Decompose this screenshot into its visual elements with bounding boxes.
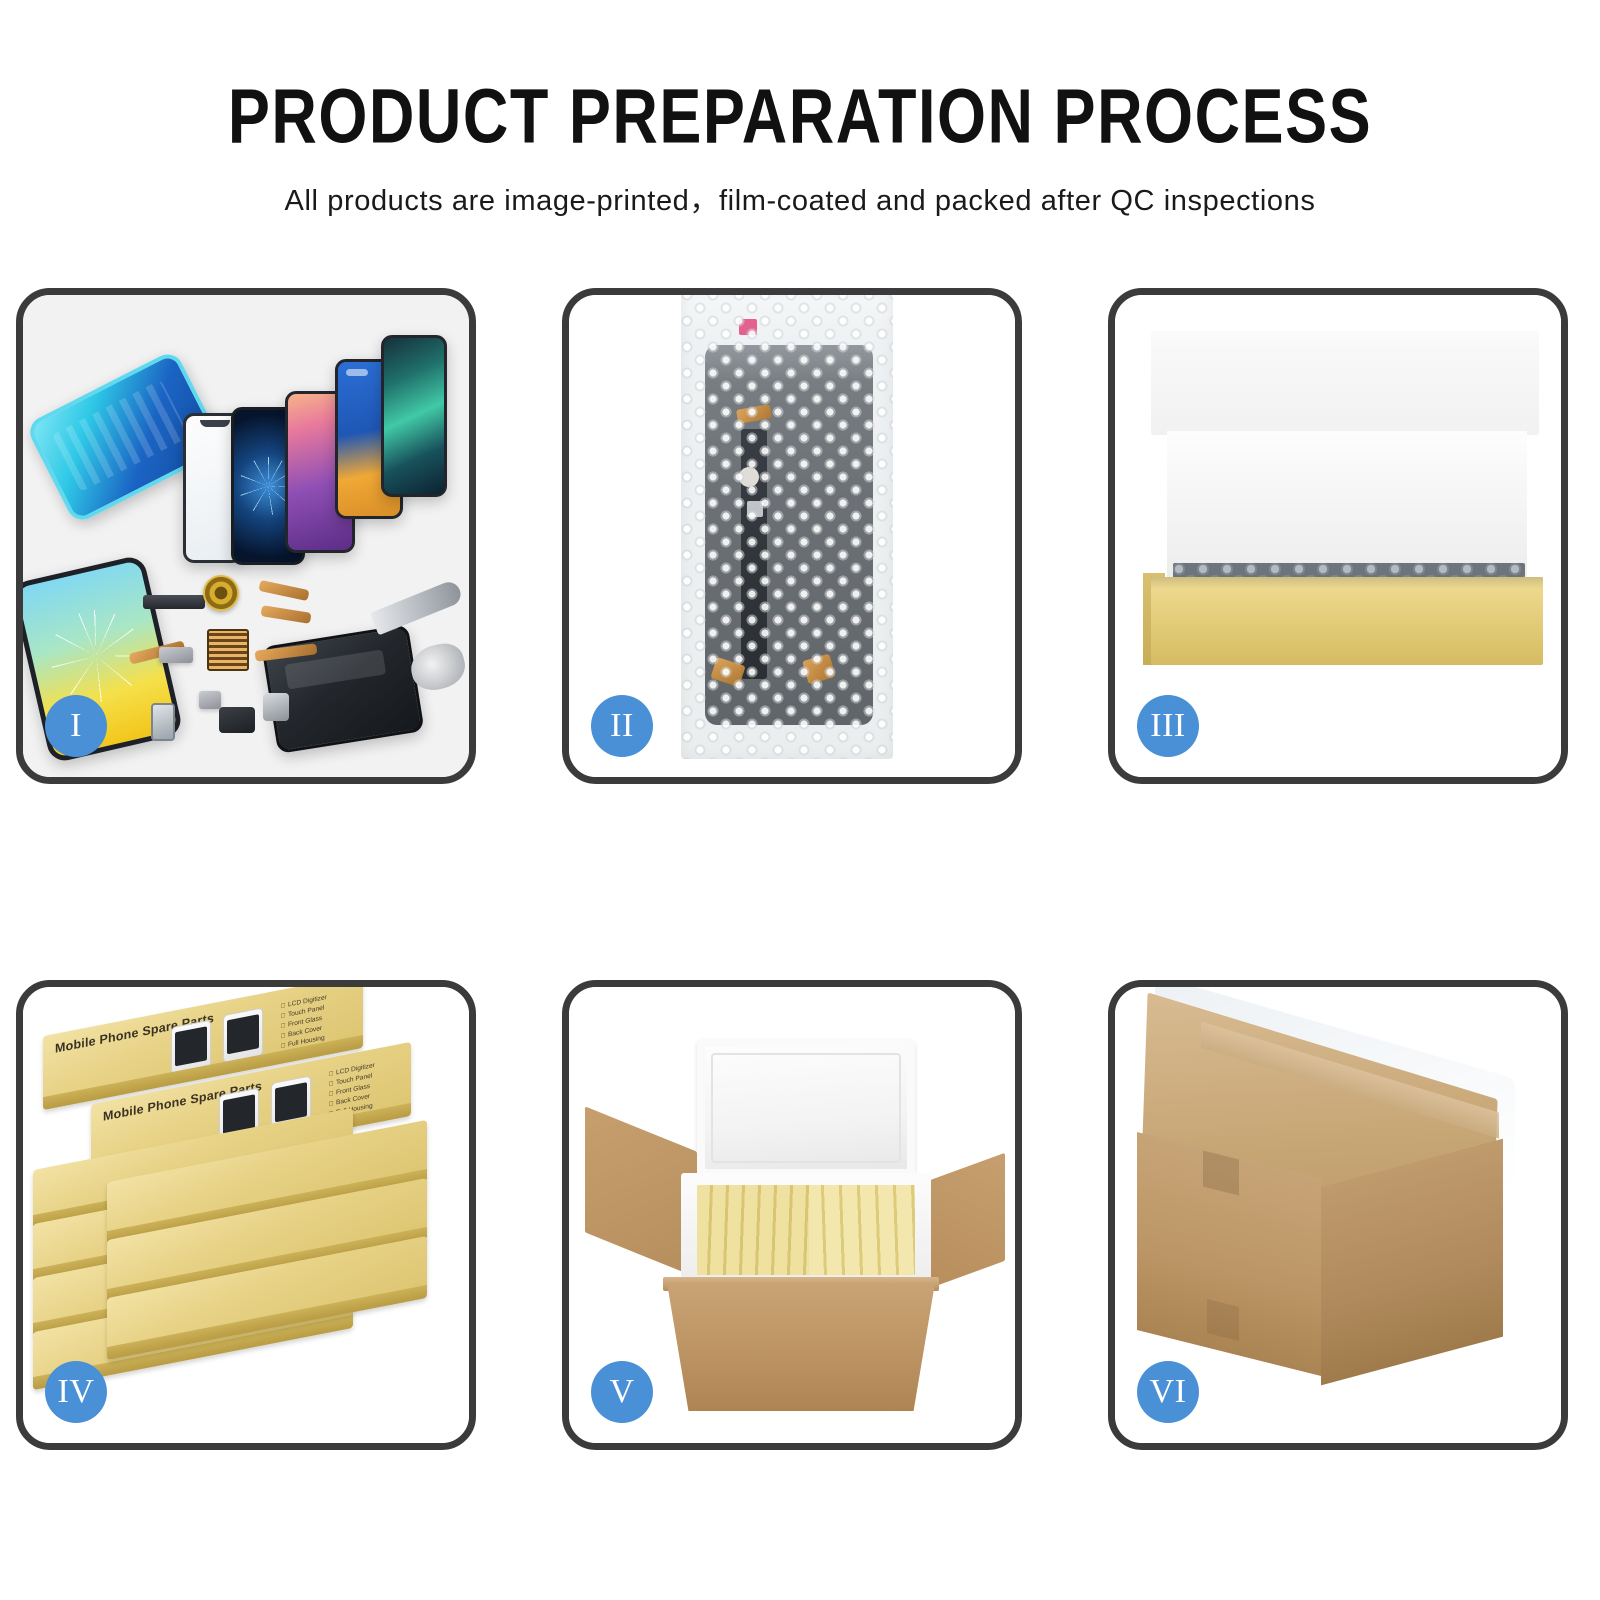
sim-tray-part xyxy=(151,703,175,741)
foam-box-lid xyxy=(697,1039,915,1177)
small-chip-part-2 xyxy=(199,691,221,709)
step-badge-6: VI xyxy=(1137,1361,1199,1423)
step-badge-1: I xyxy=(45,695,107,757)
bubble-wrap-bag xyxy=(681,295,893,759)
green-phone-image xyxy=(381,335,447,497)
camera-module-part xyxy=(263,693,289,721)
page-subtitle: All products are image-printed，film-coat… xyxy=(0,177,1600,219)
packed-retail-boxes-right xyxy=(809,1185,915,1275)
small-chip-part-1 xyxy=(159,647,193,663)
earpiece-mesh-part xyxy=(143,595,205,609)
step-1-image: I xyxy=(23,295,469,777)
step-4-image: Mobile Phone Spare Parts LCD Digitizer T… xyxy=(23,987,469,1443)
step-badge-2: II xyxy=(591,695,653,757)
step-6-image: VI xyxy=(1115,987,1561,1443)
step-5-image: V xyxy=(569,987,1015,1443)
step-panel-3: III xyxy=(1108,288,1568,784)
step-badge-3: III xyxy=(1137,695,1199,757)
page-title: PRODUCT PREPARATION PROCESS xyxy=(0,78,1600,158)
bubble-wrap-texture xyxy=(681,295,893,759)
step-badge-5: V xyxy=(591,1361,653,1423)
mailer-inner-shadow xyxy=(1151,577,1543,589)
step-2-image: II xyxy=(569,295,1015,777)
step-badge-4: IV xyxy=(45,1361,107,1423)
phone-back-housing-image xyxy=(261,624,424,754)
product-preparation-infographic: PRODUCT PREPARATION PROCESS All products… xyxy=(0,0,1600,1600)
ic-chip-part xyxy=(207,629,249,671)
step-panel-6: VI xyxy=(1108,980,1568,1450)
mailer-lid-top xyxy=(1151,331,1539,435)
mailer-box-front xyxy=(1151,577,1543,665)
step-panel-1: I xyxy=(16,288,476,784)
speaker-module-part xyxy=(219,707,255,733)
wireless-charging-coil-part xyxy=(203,575,239,611)
step-3-image: III xyxy=(1115,295,1561,777)
step-panel-2: II xyxy=(562,288,1022,784)
header: PRODUCT PREPARATION PROCESS All products… xyxy=(0,0,1600,219)
step-panel-5: V xyxy=(562,980,1022,1450)
carton-front-face xyxy=(667,1283,935,1411)
mailer-lid-front xyxy=(1167,431,1527,577)
step-panel-4: Mobile Phone Spare Parts LCD Digitizer T… xyxy=(16,980,476,1450)
